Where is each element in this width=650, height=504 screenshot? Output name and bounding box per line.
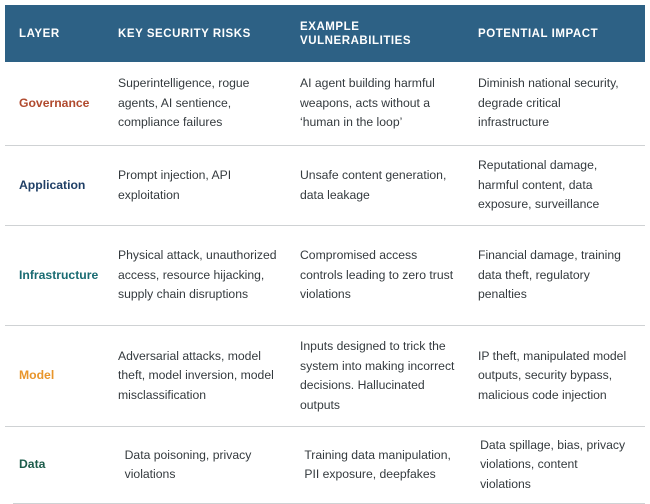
table-row: Application Prompt injection, API exploi…	[5, 146, 645, 226]
table-row: Data Data poisoning, privacy violations …	[13, 427, 645, 504]
security-risk-table: LAYER KEY SECURITY RISKS EXAMPLE VULNERA…	[0, 0, 650, 503]
cell-example-vulnerabilities: Unsafe content generation, data leakage	[300, 166, 478, 205]
cell-example-vulnerabilities: Training data manipulation, PII exposure…	[304, 446, 480, 485]
cell-key-security-risks: Data poisoning, privacy violations	[125, 446, 305, 485]
cell-potential-impact: Reputational damage, harmful content, da…	[478, 156, 645, 215]
cell-example-vulnerabilities: Inputs designed to trick the system into…	[300, 337, 478, 415]
cell-key-security-risks: Physical attack, unauthorized access, re…	[118, 246, 300, 305]
column-header-key-security-risks: KEY SECURITY RISKS	[118, 27, 300, 41]
column-header-potential-impact: POTENTIAL IMPACT	[478, 27, 645, 41]
cell-layer: Infrastructure	[5, 266, 118, 286]
column-header-example-vulnerabilities: EXAMPLE VULNERABILITIES	[300, 20, 478, 48]
cell-potential-impact: Financial damage, training data theft, r…	[478, 246, 645, 305]
cell-layer: Model	[5, 366, 118, 386]
table-header-row: LAYER KEY SECURITY RISKS EXAMPLE VULNERA…	[5, 5, 645, 62]
table-row: Model Adversarial attacks, model theft, …	[5, 326, 645, 427]
table-body: Governance Superintelligence, rogue agen…	[5, 62, 645, 504]
cell-example-vulnerabilities: AI agent building harmful weapons, acts …	[300, 74, 478, 133]
cell-potential-impact: Diminish national security, degrade crit…	[478, 74, 645, 133]
cell-potential-impact: Data spillage, bias, privacy violations,…	[480, 436, 645, 495]
cell-key-security-risks: Superintelligence, rogue agents, AI sent…	[118, 74, 300, 133]
cell-potential-impact: IP theft, manipulated model outputs, sec…	[478, 347, 645, 406]
cell-layer: Application	[5, 176, 118, 196]
column-header-layer: LAYER	[5, 27, 118, 41]
cell-layer: Governance	[5, 94, 118, 114]
cell-key-security-risks: Prompt injection, API exploitation	[118, 166, 300, 205]
cell-example-vulnerabilities: Compromised access controls leading to z…	[300, 246, 478, 305]
cell-layer: Data	[13, 455, 125, 475]
table-row: Infrastructure Physical attack, unauthor…	[5, 226, 645, 326]
cell-key-security-risks: Adversarial attacks, model theft, model …	[118, 347, 300, 406]
table-row: Governance Superintelligence, rogue agen…	[5, 62, 645, 146]
